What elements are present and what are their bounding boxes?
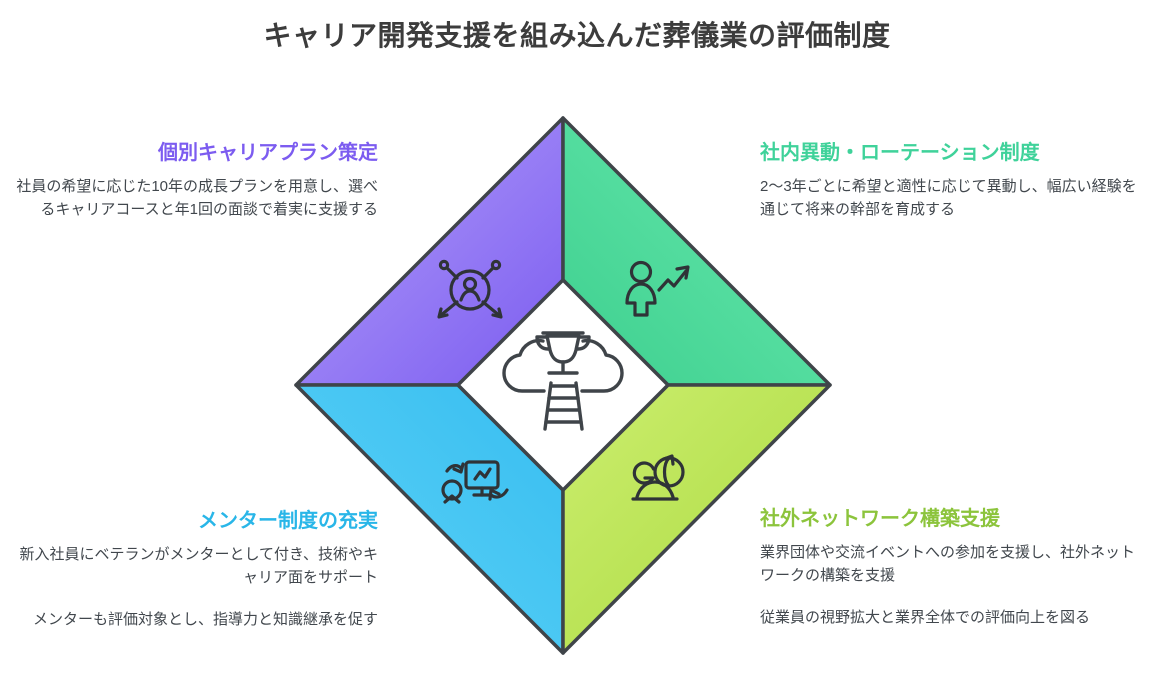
text-block-top-right: 社内異動・ローテーション制度 2〜3年ごとに希望と適性に応じて異動し、幅広い経験…: [760, 141, 1148, 222]
block-body-top-left-1: 社員の希望に応じた10年の成長プランを用意し、選べるキャリアコースと年1回の面談…: [6, 175, 378, 222]
text-block-bottom-right: 社外ネットワーク構築支援 業界団体や交流イベントへの参加を支援し、社外ネットワー…: [760, 507, 1148, 629]
block-title-bottom-right: 社外ネットワーク構築支援: [760, 507, 1148, 532]
block-body-bottom-right-1: 業界団体や交流イベントへの参加を支援し、社外ネットワークの構築を支援: [760, 541, 1148, 588]
text-block-bottom-left: メンター制度の充実 新入社員にベテランがメンターとして付き、技術やキャリア面をサ…: [6, 509, 378, 631]
block-title-top-right: 社内異動・ローテーション制度: [760, 141, 1148, 166]
block-title-bottom-left: メンター制度の充実: [6, 509, 378, 534]
block-title-top-left: 個別キャリアプラン策定: [6, 141, 378, 166]
block-body-bottom-left-1: 新入社員にベテランがメンターとして付き、技術やキャリア面をサポート: [6, 543, 378, 590]
infographic-canvas: キャリア開発支援を組み込んだ葬儀業の評価制度: [0, 0, 1154, 680]
block-body-bottom-right-2: 従業員の視野拡大と業界全体での評価向上を図る: [760, 606, 1148, 629]
text-block-top-left: 個別キャリアプラン策定 社員の希望に応じた10年の成長プランを用意し、選べるキャ…: [6, 141, 378, 222]
block-body-top-right-1: 2〜3年ごとに希望と適性に応じて異動し、幅広い経験を通じて将来の幹部を育成する: [760, 175, 1148, 222]
block-body-bottom-left-2: メンターも評価対象とし、指導力と知識継承を促す: [6, 608, 378, 631]
